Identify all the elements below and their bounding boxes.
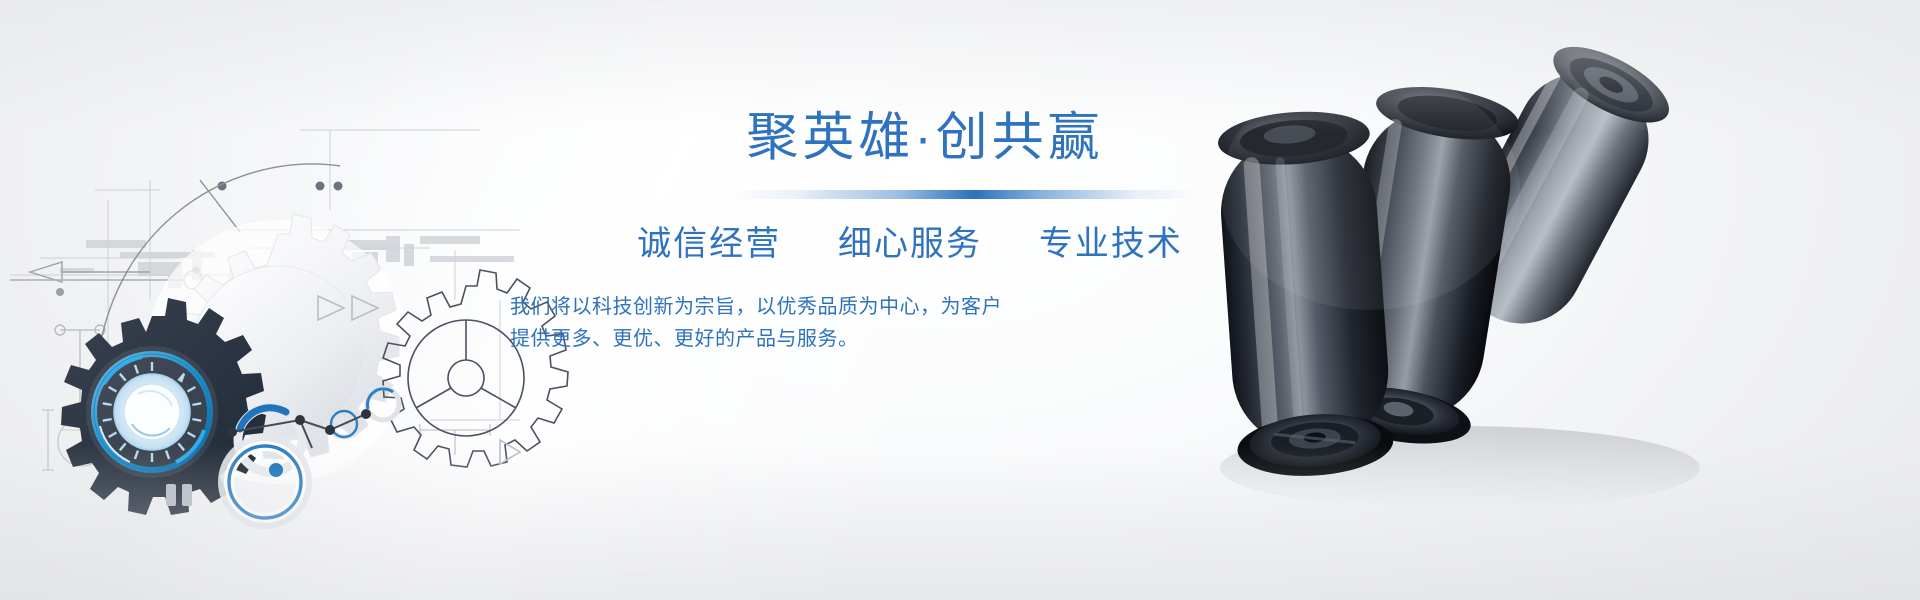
banner-copy: 聚英雄·创共赢 诚信经营 细心服务 专业技术 我们将以科技创新为宗旨，以优秀品质… bbox=[620, 112, 1240, 356]
subline-item-3: 专业技术 bbox=[1039, 225, 1183, 263]
subline-item-1: 诚信经营 bbox=[637, 225, 781, 263]
conveyor-roller-product-photo bbox=[1160, 0, 1920, 600]
gradient-divider bbox=[730, 190, 1200, 199]
subline-item-2: 细心服务 bbox=[838, 225, 982, 263]
banner-subline: 诚信经营 细心服务 专业技术 bbox=[560, 227, 1260, 261]
banner-body-copy: 我们将以科技创新为宗旨，以优秀品质为中心，为客户 提供更多、更优、更好的产品与服… bbox=[510, 291, 1070, 356]
body-line-1: 我们将以科技创新为宗旨，以优秀品质为中心，为客户 bbox=[510, 291, 1070, 323]
body-line-2: 提供更多、更优、更好的产品与服务。 bbox=[510, 323, 1070, 355]
banner-headline: 聚英雄·创共赢 bbox=[610, 112, 1240, 164]
hero-banner: 聚英雄·创共赢 诚信经营 细心服务 专业技术 我们将以科技创新为宗旨，以优秀品质… bbox=[0, 0, 1920, 600]
arrow-marker-left bbox=[30, 262, 150, 282]
product-sheen bbox=[1220, 70, 1520, 310]
